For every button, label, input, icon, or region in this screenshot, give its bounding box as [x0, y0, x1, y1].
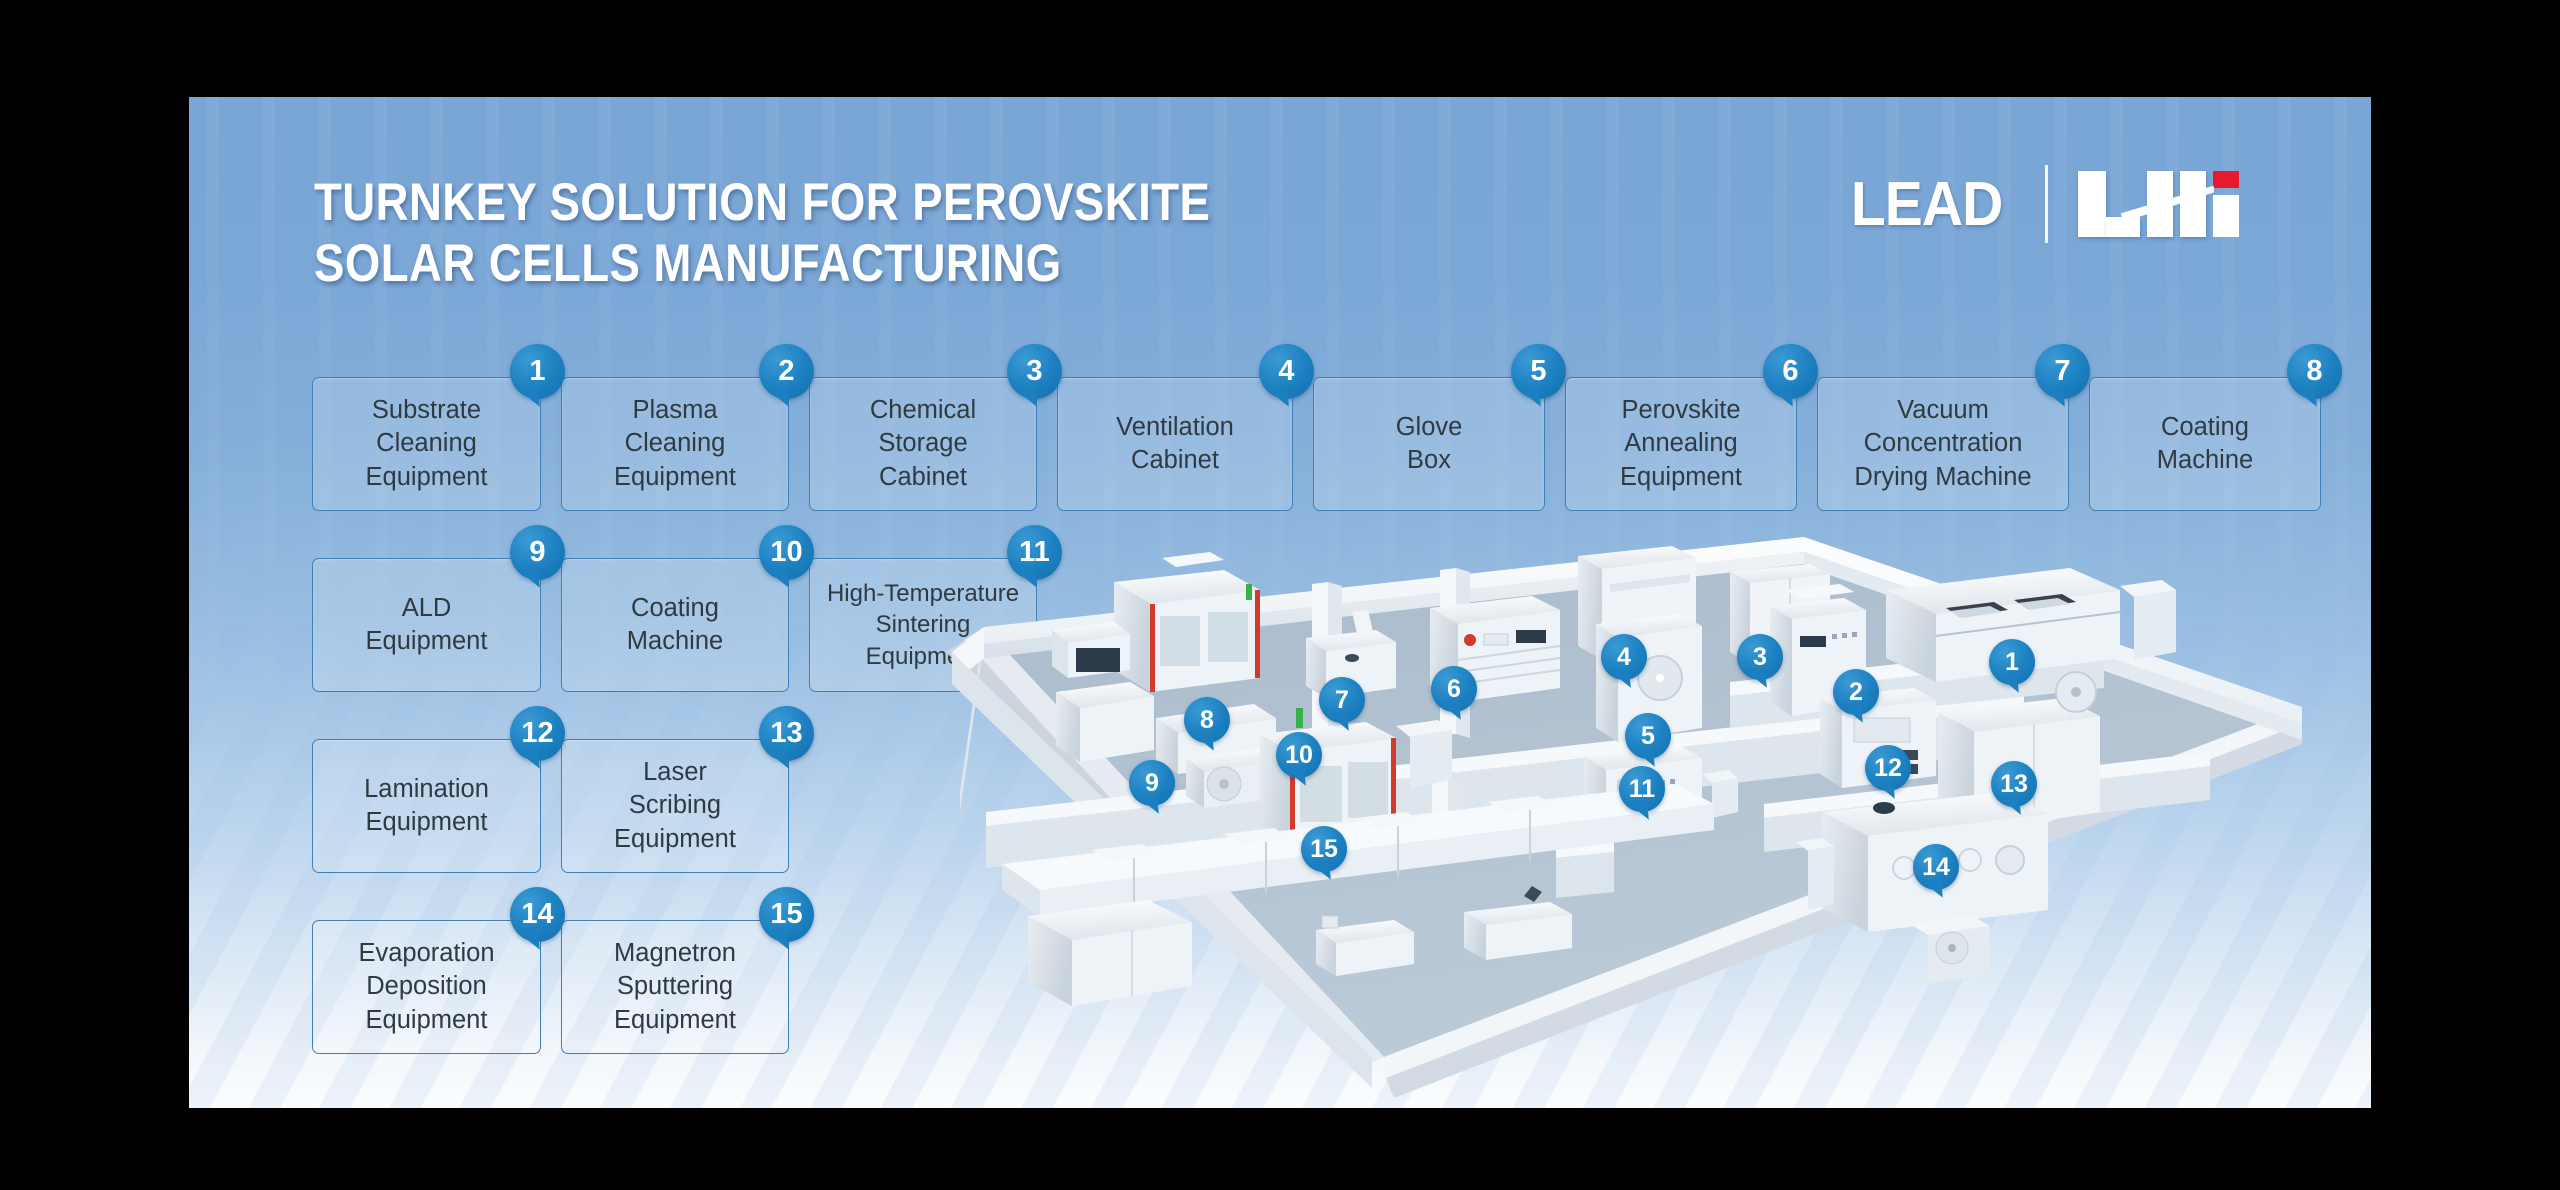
lhi-letter-h-right	[2180, 171, 2206, 237]
machine-14-fan	[1910, 916, 1990, 984]
floor-plan-marker-8[interactable]: 8	[1184, 697, 1230, 743]
floor-plan-marker-1[interactable]: 1	[1989, 639, 2035, 685]
lhi-letter-i-dot	[2213, 171, 2239, 188]
machine-8	[1114, 552, 1260, 692]
equipment-card-8[interactable]: Coating Machine	[2089, 377, 2321, 511]
lhi-logo	[2078, 171, 2239, 237]
equipment-card-9[interactable]: ALD Equipment	[312, 558, 541, 692]
equipment-label: Coating Machine	[2157, 411, 2253, 477]
equipment-card-12[interactable]: Lamination Equipment	[312, 739, 541, 873]
equipment-badge-4[interactable]: 4	[1259, 344, 1314, 399]
lhi-letter-l-stem	[2078, 171, 2106, 237]
equipment-label: Coating Machine	[627, 592, 723, 658]
equipment-card-3[interactable]: Chemical Storage Cabinet	[809, 377, 1037, 511]
equipment-badge-11[interactable]: 11	[1007, 525, 1062, 580]
equipment-badge-5[interactable]: 5	[1511, 344, 1566, 399]
floor-plan-marker-3[interactable]: 3	[1737, 634, 1783, 680]
floor-plan-marker-4[interactable]: 4	[1601, 634, 1647, 680]
equipment-badge-15[interactable]: 15	[759, 887, 814, 942]
equipment-card-7[interactable]: Vacuum Concentration Drying Machine	[1817, 377, 2069, 511]
equipment-card-4[interactable]: Ventilation Cabinet	[1057, 377, 1293, 511]
equipment-label: Lamination Equipment	[364, 773, 489, 839]
equipment-badge-6[interactable]: 6	[1763, 344, 1818, 399]
floor-plan-marker-10[interactable]: 10	[1276, 732, 1322, 778]
equipment-label: Perovskite Annealing Equipment	[1620, 394, 1742, 493]
equipment-badge-2[interactable]: 2	[759, 344, 814, 399]
equipment-label: Chemical Storage Cabinet	[870, 394, 976, 493]
equipment-label: Ventilation Cabinet	[1116, 411, 1234, 477]
machine-14	[1796, 792, 2048, 984]
equipment-card-13[interactable]: Laser Scribing Equipment	[561, 739, 789, 873]
floor-plan-marker-9[interactable]: 9	[1129, 760, 1175, 806]
lhi-letter-i-stem	[2213, 195, 2239, 237]
page-title: TURNKEY SOLUTION FOR PEROVSKITE SOLAR CE…	[314, 172, 1260, 295]
floor-plan-marker-6[interactable]: 6	[1431, 666, 1477, 712]
equipment-card-10[interactable]: Coating Machine	[561, 558, 789, 692]
equipment-label: Substrate Cleaning Equipment	[366, 394, 488, 493]
floor-plan-marker-5[interactable]: 5	[1625, 713, 1671, 759]
floor-plan-marker-2[interactable]: 2	[1833, 669, 1879, 715]
equipment-badge-3[interactable]: 3	[1007, 344, 1062, 399]
equipment-card-14[interactable]: Evaporation Deposition Equipment	[312, 920, 541, 1054]
floor-plan-marker-7[interactable]: 7	[1319, 677, 1365, 723]
equipment-card-6[interactable]: Perovskite Annealing Equipment	[1565, 377, 1797, 511]
factory-floor-plan: 123456789101112131415	[924, 512, 2304, 1097]
equipment-label: Magnetron Sputtering Equipment	[614, 937, 736, 1036]
equipment-badge-13[interactable]: 13	[759, 706, 814, 761]
floor-plan-marker-14[interactable]: 14	[1913, 844, 1959, 890]
equipment-badge-9[interactable]: 9	[510, 525, 565, 580]
equipment-label: Laser Scribing Equipment	[614, 756, 736, 855]
lead-logo: LEAD	[1851, 169, 2008, 240]
equipment-card-5[interactable]: Glove Box	[1313, 377, 1545, 511]
equipment-label: Glove Box	[1396, 411, 1463, 477]
equipment-label: Evaporation Deposition Equipment	[358, 937, 494, 1036]
equipment-badge-14[interactable]: 14	[510, 887, 565, 942]
floor-plan-marker-13[interactable]: 13	[1991, 761, 2037, 807]
equipment-badge-7[interactable]: 7	[2035, 344, 2090, 399]
equipment-card-15[interactable]: Magnetron Sputtering Equipment	[561, 920, 789, 1054]
equipment-label: ALD Equipment	[366, 592, 488, 658]
logo-group: LEAD	[1844, 159, 2239, 249]
poster-card: TURNKEY SOLUTION FOR PEROVSKITE SOLAR CE…	[189, 97, 2371, 1108]
logo-divider	[2045, 165, 2048, 243]
equipment-badge-12[interactable]: 12	[510, 706, 565, 761]
floor-plan-marker-12[interactable]: 12	[1865, 745, 1911, 791]
equipment-badge-8[interactable]: 8	[2287, 344, 2342, 399]
equipment-card-1[interactable]: Substrate Cleaning Equipment	[312, 377, 541, 511]
equipment-badge-10[interactable]: 10	[759, 525, 814, 580]
equipment-card-2[interactable]: Plasma Cleaning Equipment	[561, 377, 789, 511]
floor-plan-marker-11[interactable]: 11	[1619, 766, 1665, 812]
machine-8-hmi	[1052, 622, 1130, 678]
equipment-label: Vacuum Concentration Drying Machine	[1854, 394, 2031, 493]
equipment-badge-1[interactable]: 1	[510, 344, 565, 399]
floor-plan-marker-15[interactable]: 15	[1301, 826, 1347, 872]
equipment-label: Plasma Cleaning Equipment	[614, 394, 736, 493]
